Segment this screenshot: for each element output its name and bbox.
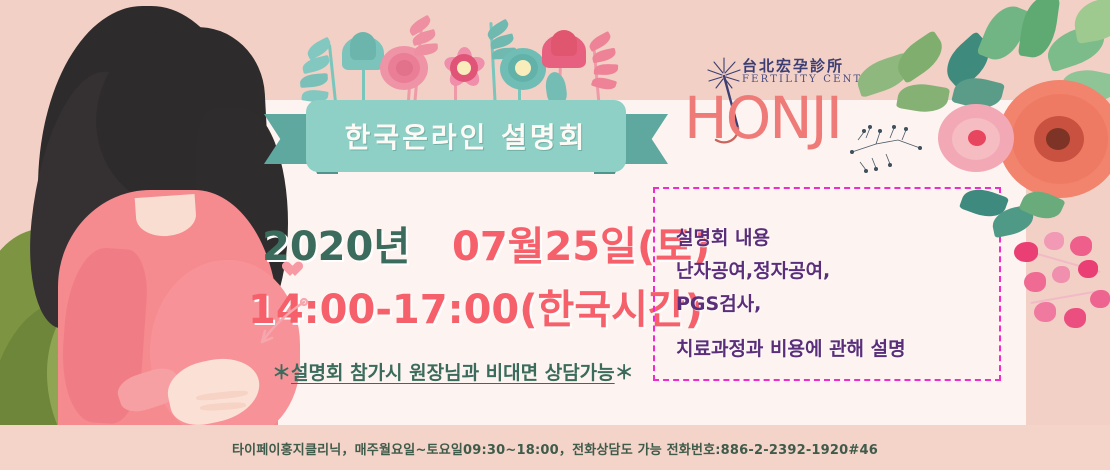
- watercolor-flower-core: [1046, 128, 1070, 150]
- flower-center: [515, 60, 531, 76]
- footer-contact-text: 타이페이홍지클리닉，매주월요일~토요일09:30~18:00，전화상담도 가능 …: [0, 439, 1110, 458]
- fern-leaf: [301, 55, 331, 74]
- event-date-line: 2020년 07월25일(토): [262, 214, 710, 272]
- pregnant-woman-illustration: [0, 0, 300, 470]
- info-line-4: 치료과정과 비용에 관해 설명: [676, 333, 1006, 366]
- fern-leaf: [594, 64, 618, 76]
- spiky-flower-core: [551, 30, 577, 56]
- note-text: 설명회 참가시 원장님과 비대면 상담가능: [291, 362, 615, 384]
- petal: [1014, 242, 1038, 262]
- petal: [1052, 266, 1070, 283]
- heart-icon: [286, 262, 302, 277]
- logo-wordmark: HONJI: [684, 84, 841, 152]
- banner-title: 한국온라인 설명회: [306, 100, 626, 172]
- petal: [1090, 290, 1110, 308]
- petal: [1078, 260, 1098, 278]
- petal: [1064, 308, 1086, 328]
- ribbon-banner: 한국온라인 설명회: [264, 96, 668, 180]
- petal: [1044, 232, 1064, 250]
- curved-arrow-icon: [252, 300, 312, 352]
- watercolor-leaf: [1071, 0, 1110, 44]
- pink-petal-branch: [1012, 230, 1110, 380]
- flower-center: [457, 61, 471, 75]
- note-asterisk-right: ＊: [615, 362, 634, 384]
- watercolor-flower-small-core: [968, 130, 986, 146]
- petal: [1070, 236, 1092, 256]
- fan-flower-core: [350, 32, 376, 60]
- fern-leaf: [591, 75, 617, 92]
- promo-poster: 한국온라인 설명회 2020년 07월25일(토) 14:00-17:00(한국…: [0, 0, 1110, 470]
- consultation-note: ＊설명회 참가시 원장님과 비대면 상담가능＊: [272, 358, 634, 385]
- fern-leaf: [300, 73, 329, 88]
- note-asterisk-left: ＊: [272, 362, 291, 384]
- event-time: 14:00-17:00(한국시간): [248, 277, 703, 335]
- petal: [1034, 302, 1056, 322]
- rose-core: [396, 60, 413, 76]
- dandelion-sprig-icon: [846, 110, 956, 190]
- logo-chinese-name: 台北宏孕診所: [742, 55, 844, 76]
- clinic-logo: 台北宏孕診所 FERTILITY CENTER HONJI: [686, 52, 856, 160]
- petal: [1024, 272, 1046, 292]
